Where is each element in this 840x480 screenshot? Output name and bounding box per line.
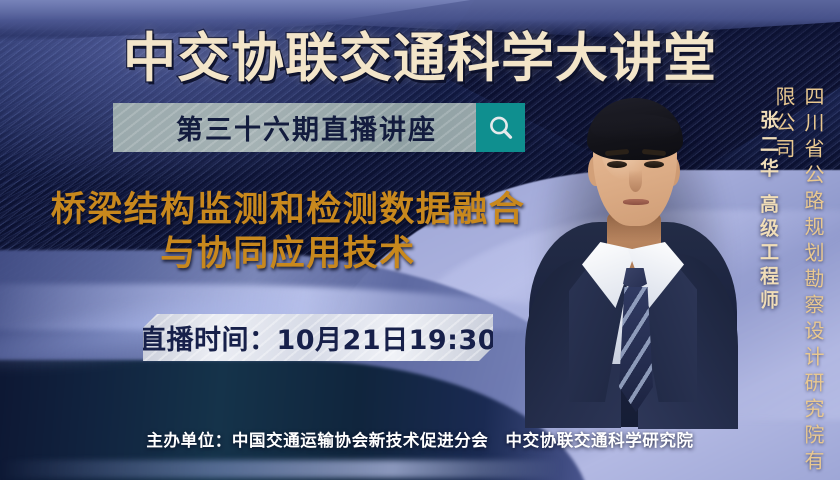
episode-label: 第三十六期直播讲座 [113, 108, 476, 147]
episode-banner: 第三十六期直播讲座 [113, 103, 525, 152]
broadcast-time-banner: 直播时间：10月21日19:30 [143, 314, 493, 361]
lecture-title-line-1: 桥梁结构监测和检测数据融合 [18, 188, 558, 232]
page-title: 中交协联交通科学大讲堂 [0, 16, 840, 92]
portrait-mouth [623, 199, 649, 205]
broadcast-time-text: 直播时间：10月21日19:30 [139, 318, 497, 357]
portrait-hair-shading [591, 114, 679, 140]
speaker-name-title: 张二华 高级工程师 [755, 110, 782, 314]
portrait-nose [629, 170, 642, 192]
lecture-title-line-2: 与协同应用技术 [18, 232, 558, 276]
search-button[interactable] [476, 103, 525, 152]
organizers-footer: 主办单位：中国交通运输协会新技术促进分会 中交协联交通科学研究院 [0, 427, 840, 451]
portrait-eye-left [607, 161, 627, 168]
webinar-poster: 中交协联交通科学大讲堂 第三十六期直播讲座 桥梁结构监测和检测数据融合 与协同应… [0, 0, 840, 480]
portrait-eye-right [644, 161, 664, 168]
search-icon [486, 113, 516, 143]
portrait-necktie [619, 287, 653, 412]
lecture-title: 桥梁结构监测和检测数据融合 与协同应用技术 [18, 188, 558, 276]
silk-ribbon-bottom-highlight [0, 460, 560, 478]
